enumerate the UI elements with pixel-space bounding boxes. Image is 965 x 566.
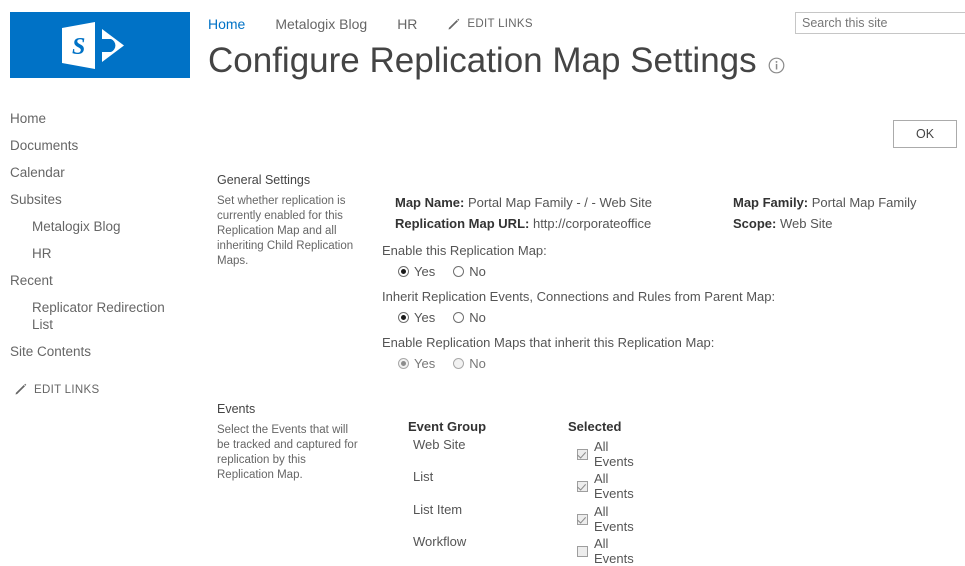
sharepoint-logo[interactable]: S — [10, 12, 190, 78]
enable-inheriting-maps-group: Enable Replication Maps that inherit thi… — [382, 334, 714, 371]
sidebar-item-subsites[interactable]: Subsites — [0, 186, 200, 213]
enable-replication-map-group: Enable this Replication Map: Yes No — [382, 242, 547, 279]
map-name-value: Portal Map Family - / - Web Site — [468, 195, 652, 210]
map-family-row: Map Family: Portal Map Family — [733, 192, 917, 213]
pencil-icon — [447, 18, 460, 31]
radio-no-label: No — [469, 310, 486, 325]
sidebar-item-site-contents[interactable]: Site Contents — [0, 338, 200, 365]
sidebar-edit-links-button[interactable]: EDIT LINKS — [0, 383, 200, 396]
top-edit-links-button[interactable]: EDIT LINKS — [447, 18, 532, 31]
map-family-label: Map Family: — [733, 195, 808, 210]
radio-yes[interactable] — [398, 358, 409, 369]
checkbox-label: All Events — [594, 439, 634, 469]
checkbox-label: All Events — [594, 504, 634, 534]
enable-replication-map-yes-option[interactable]: Yes — [398, 264, 435, 279]
radio-yes[interactable] — [398, 266, 409, 277]
top-edit-links-label: EDIT LINKS — [467, 18, 532, 30]
events-heading: Events — [217, 401, 255, 417]
sidebar-item-calendar[interactable]: Calendar — [0, 159, 200, 186]
map-url-label: Replication Map URL: — [395, 216, 529, 231]
events-column-header-group: Event Group — [408, 418, 486, 436]
radio-yes[interactable] — [398, 312, 409, 323]
events-column-header-selected: Selected — [568, 418, 621, 436]
sidebar-item-recent[interactable]: Recent — [0, 267, 200, 294]
event-group-name: List Item — [413, 502, 462, 518]
event-group-name: List — [413, 469, 433, 485]
inherit-from-parent-no-option[interactable]: No — [453, 310, 486, 325]
radio-no-label: No — [469, 264, 486, 279]
radio-no[interactable] — [453, 358, 464, 369]
scope-label: Scope: — [733, 216, 776, 231]
radio-no[interactable] — [453, 266, 464, 277]
page-title: Configure Replication Map Settings — [208, 39, 785, 83]
enable-inheriting-maps-yes-option[interactable]: Yes — [398, 356, 435, 371]
top-nav-item-hr[interactable]: HR — [397, 14, 417, 34]
radio-no[interactable] — [453, 312, 464, 323]
suite-bar: S Home Metalogix Blog HR EDIT LINKS Conf… — [0, 0, 965, 95]
checkbox[interactable] — [577, 449, 588, 460]
sidebar: Home Documents Calendar Subsites Metalog… — [0, 105, 200, 396]
pencil-icon — [14, 383, 27, 396]
inherit-from-parent-group: Inherit Replication Events, Connections … — [382, 288, 775, 325]
radio-no-label: No — [469, 356, 486, 371]
inherit-from-parent-label: Inherit Replication Events, Connections … — [382, 288, 775, 306]
map-meta-left: Map Name: Portal Map Family - / - Web Si… — [395, 192, 652, 234]
sidebar-item-documents[interactable]: Documents — [0, 132, 200, 159]
ok-button[interactable]: OK — [893, 120, 957, 148]
enable-replication-map-no-option[interactable]: No — [453, 264, 486, 279]
inherit-from-parent-yes-option[interactable]: Yes — [398, 310, 435, 325]
map-url-value: http://corporateoffice — [533, 216, 651, 231]
map-url-row: Replication Map URL: http://corporateoff… — [395, 213, 652, 234]
sidebar-item-metalogix-blog[interactable]: Metalogix Blog — [0, 213, 192, 240]
scope-value: Web Site — [780, 216, 833, 231]
general-settings-description: Set whether replication is currently ena… — [217, 194, 357, 269]
map-name-label: Map Name: — [395, 195, 464, 210]
sidebar-item-hr[interactable]: HR — [0, 240, 192, 267]
svg-text:S: S — [72, 34, 85, 60]
top-nav-item-home[interactable]: Home — [208, 14, 245, 34]
sidebar-item-home[interactable]: Home — [0, 105, 200, 132]
event-all-events-checkbox-row[interactable]: All Events — [577, 439, 634, 469]
events-description: Select the Events that will be tracked a… — [217, 423, 362, 483]
top-nav-item-metalogix-blog[interactable]: Metalogix Blog — [275, 14, 367, 34]
sidebar-edit-links-label: EDIT LINKS — [34, 384, 99, 396]
checkbox[interactable] — [577, 546, 588, 557]
enable-replication-map-label: Enable this Replication Map: — [382, 242, 547, 260]
general-settings-heading: General Settings — [217, 172, 310, 188]
checkbox[interactable] — [577, 514, 588, 525]
radio-yes-label: Yes — [414, 264, 435, 279]
radio-yes-label: Yes — [414, 310, 435, 325]
page-title-text: Configure Replication Map Settings — [208, 39, 757, 83]
sharepoint-logo-icon: S — [62, 22, 152, 69]
checkbox[interactable] — [577, 481, 588, 492]
map-meta-right: Map Family: Portal Map Family Scope: Web… — [733, 192, 917, 234]
map-family-value: Portal Map Family — [812, 195, 917, 210]
top-navigation: Home Metalogix Blog HR EDIT LINKS — [208, 13, 533, 35]
enable-inheriting-maps-no-option[interactable]: No — [453, 356, 486, 371]
checkbox-label: All Events — [594, 471, 634, 501]
event-all-events-checkbox-row[interactable]: All Events — [577, 504, 634, 534]
event-group-name: Web Site — [413, 437, 466, 453]
sidebar-item-replicator-redirection-list[interactable]: Replicator Redirection List — [0, 294, 192, 338]
radio-yes-label: Yes — [414, 356, 435, 371]
map-name-row: Map Name: Portal Map Family - / - Web Si… — [395, 192, 652, 213]
search-input[interactable] — [795, 12, 965, 34]
scope-row: Scope: Web Site — [733, 213, 917, 234]
event-group-name: Workflow — [413, 534, 466, 550]
event-all-events-checkbox-row[interactable]: All Events — [577, 471, 634, 501]
enable-inheriting-maps-label: Enable Replication Maps that inherit thi… — [382, 334, 714, 352]
info-icon[interactable] — [768, 57, 785, 74]
